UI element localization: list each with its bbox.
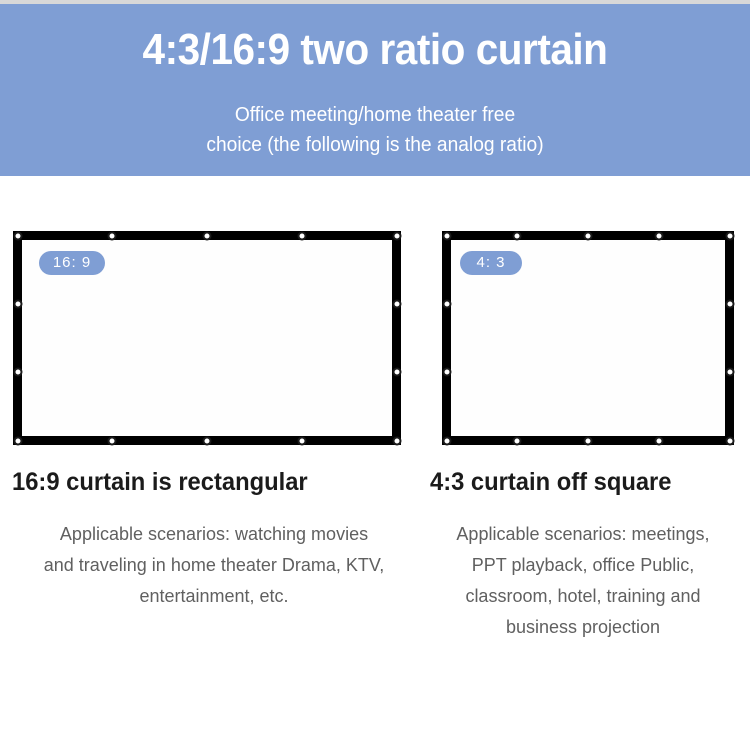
caption-body-4-3-line-2: PPT playback, office Public, — [430, 550, 736, 581]
grommet-bottom — [513, 436, 522, 445]
caption-body-4-3-line-4: business projection — [430, 612, 736, 643]
grommet-bottom — [108, 436, 117, 445]
caption-heading-4-3: 4:3 curtain off square — [430, 465, 721, 499]
caption-body-4-3: Applicable scenarios: meetings, PPT play… — [430, 519, 736, 643]
grommet-top — [392, 231, 401, 240]
grommet-top — [13, 231, 22, 240]
grommet-right — [725, 299, 734, 308]
caption-body-16-9-line-3: entertainment, etc. — [12, 581, 416, 612]
grommet-top — [513, 231, 522, 240]
caption-body-16-9-line-1: Applicable scenarios: watching movies — [12, 519, 416, 550]
caption-heading-16-9: 16:9 curtain is rectangular — [12, 465, 396, 499]
grommet-right — [392, 368, 401, 377]
caption-body-16-9-line-2: and traveling in home theater Drama, KTV… — [12, 550, 416, 581]
grommet-right — [725, 368, 734, 377]
product-infographic-page: 4:3/16:9 two ratio curtain Office meetin… — [0, 0, 750, 750]
grommet-bottom — [203, 436, 212, 445]
caption-columns: 16:9 curtain is rectangular Applicable s… — [0, 465, 750, 643]
caption-body-4-3-line-1: Applicable scenarios: meetings, — [430, 519, 736, 550]
grommet-bottom — [654, 436, 663, 445]
ratio-badge-16-9: 16: 9 — [39, 251, 105, 275]
caption-column-4-3: 4:3 curtain off square Applicable scenar… — [430, 465, 750, 643]
grommet-top — [725, 231, 734, 240]
grommet-top — [108, 231, 117, 240]
grommet-left — [13, 299, 22, 308]
grommet-top — [442, 231, 451, 240]
grommet-bottom — [584, 436, 593, 445]
grommet-bottom — [297, 436, 306, 445]
grommet-left — [442, 368, 451, 377]
grommet-top — [584, 231, 593, 240]
grommet-left — [13, 368, 22, 377]
grommet-top — [297, 231, 306, 240]
grommet-right — [392, 299, 401, 308]
projector-screen-4-3: 4: 3 — [442, 231, 734, 445]
grommet-top — [654, 231, 663, 240]
caption-body-16-9: Applicable scenarios: watching movies an… — [12, 519, 416, 612]
grommet-left — [442, 299, 451, 308]
caption-column-16-9: 16:9 curtain is rectangular Applicable s… — [0, 465, 430, 643]
grommet-bottom — [442, 436, 451, 445]
grommet-top — [203, 231, 212, 240]
ratio-badge-4-3: 4: 3 — [460, 251, 522, 275]
caption-body-4-3-line-3: classroom, hotel, training and — [430, 581, 736, 612]
grommet-bottom — [13, 436, 22, 445]
grommet-bottom — [725, 436, 734, 445]
grommet-bottom — [392, 436, 401, 445]
projector-screen-16-9: 16: 9 — [13, 231, 401, 445]
